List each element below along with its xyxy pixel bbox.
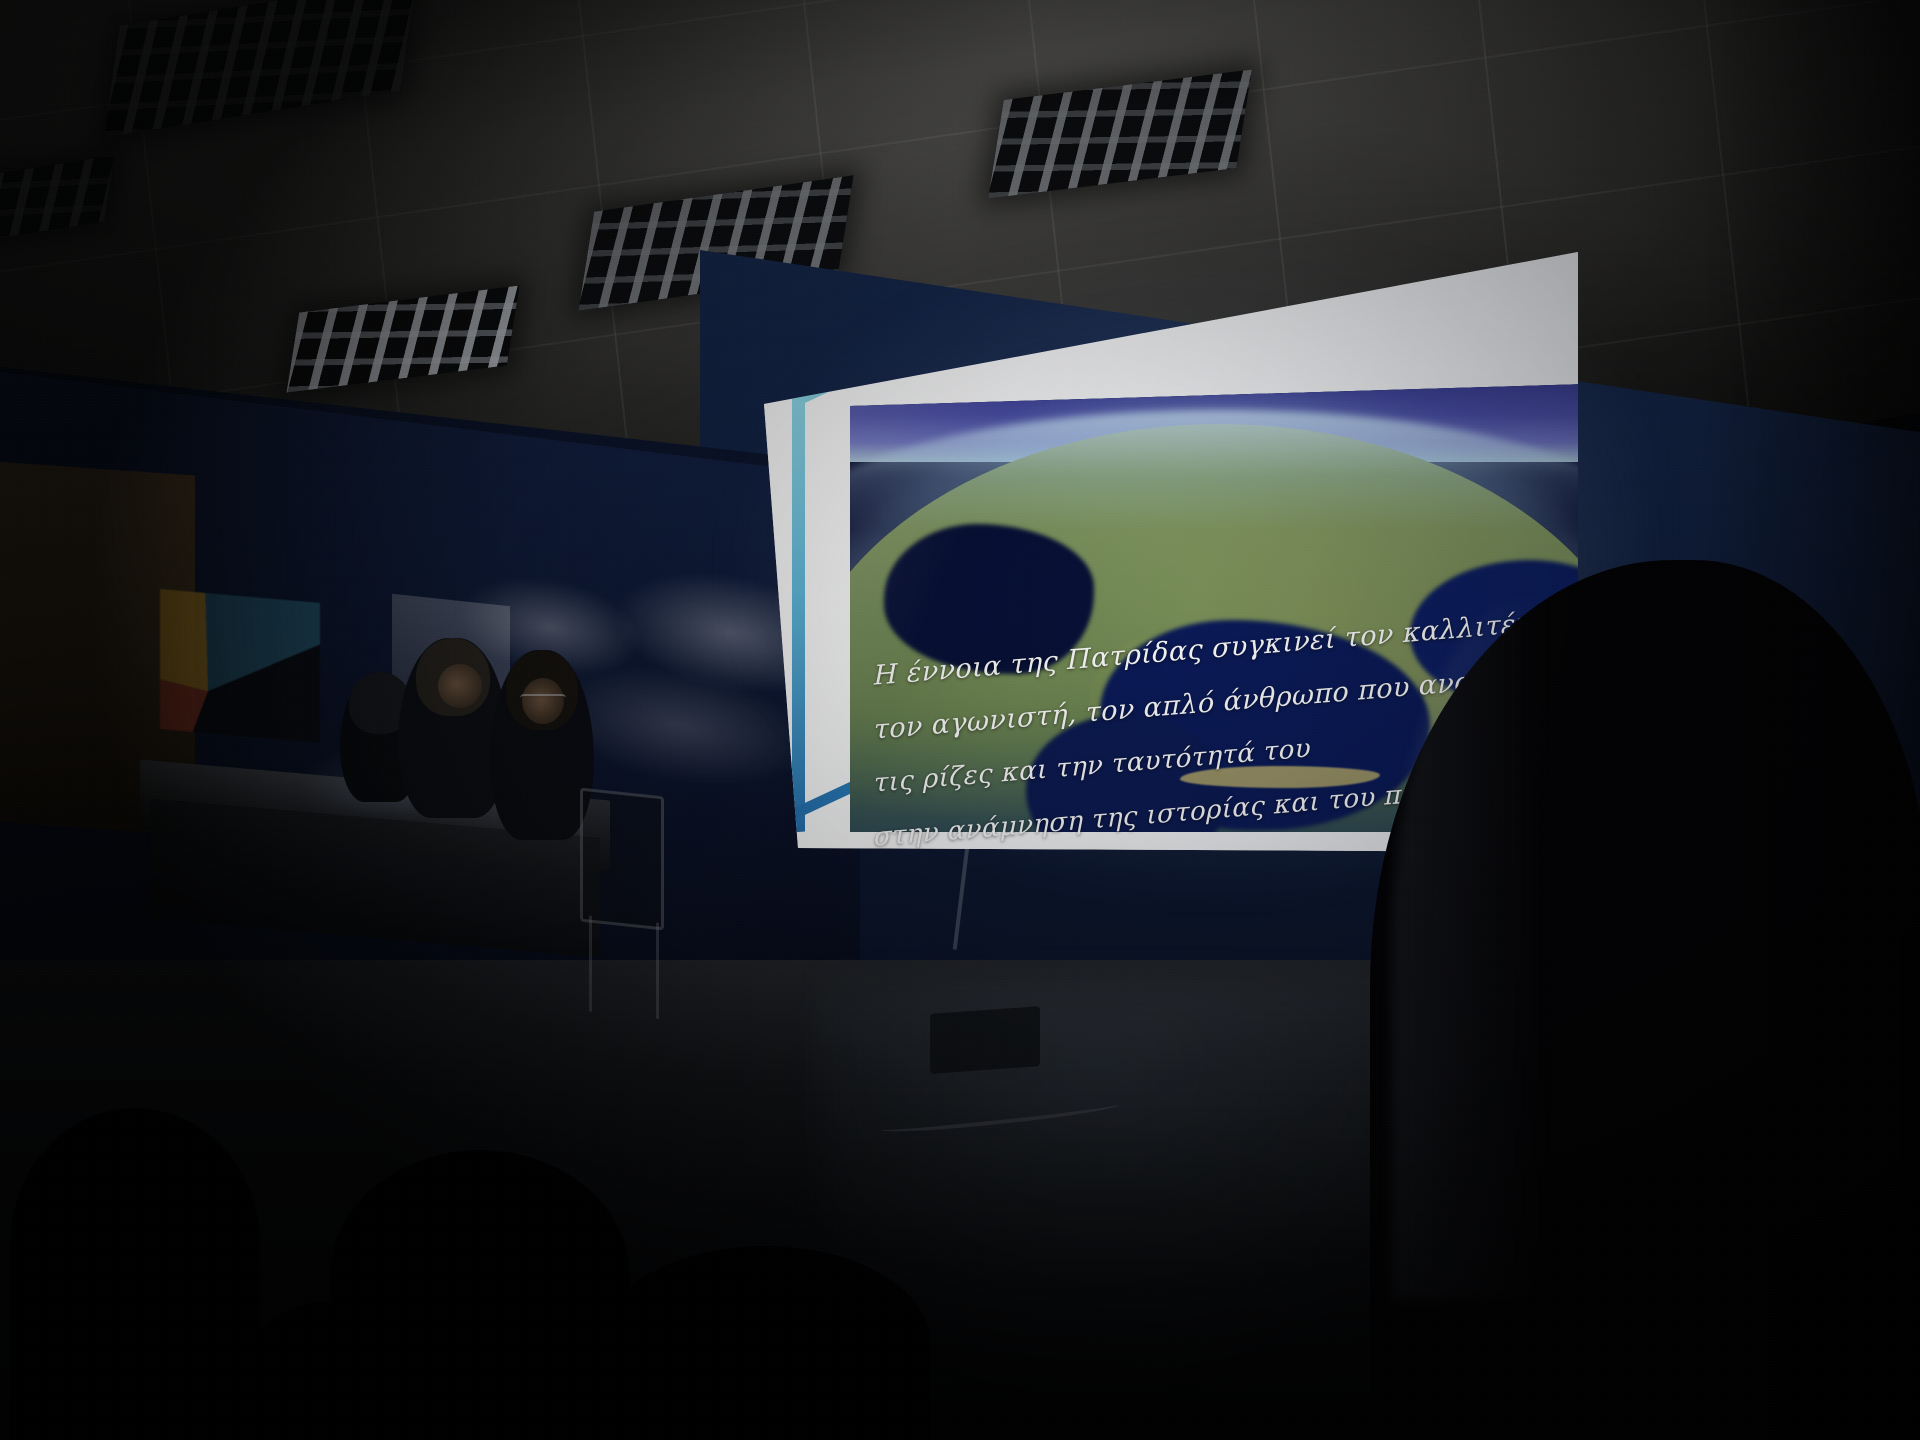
slide-accent-left-bar bbox=[792, 402, 805, 833]
presenter-right bbox=[490, 650, 594, 840]
classroom-presentation-photo: Η έννοια της Πατρίδας συγκινεί τον καλλι… bbox=[0, 0, 1920, 1440]
head bbox=[416, 638, 490, 716]
head bbox=[506, 650, 578, 730]
face bbox=[438, 664, 482, 708]
glasses-icon bbox=[520, 694, 566, 706]
slide-text-line-3: τις ρίζες και την ταυτότητά του bbox=[874, 733, 1311, 798]
audience-head-1 bbox=[10, 1108, 260, 1440]
chair-legs bbox=[589, 916, 659, 1019]
wall-poster bbox=[160, 589, 320, 743]
folding-chair bbox=[580, 788, 664, 931]
speaker-box bbox=[930, 1006, 1040, 1074]
right-edge-shadow bbox=[1700, 0, 1920, 1440]
audience-head-3 bbox=[600, 1246, 930, 1440]
